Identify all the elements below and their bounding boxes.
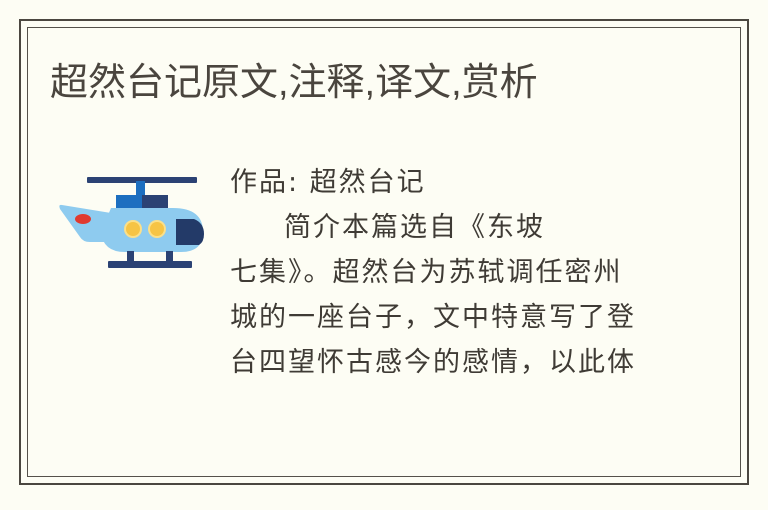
- card-content: 超然台记原文,注释,译文,赏析: [30, 30, 738, 474]
- summary-line: 七集》。超然台为苏轼调任密州: [230, 250, 690, 295]
- article-card: 超然台记原文,注释,译文,赏析: [0, 0, 768, 510]
- article-summary: 作品: 超然台记 简介本篇选自《东坡 七集》。超然台为苏轼调任密州 城的一座台子…: [230, 160, 690, 385]
- summary-line: 城的一座台子，文中特意写了登: [230, 295, 690, 340]
- helicopter-icon: [56, 175, 211, 270]
- page-title: 超然台记原文,注释,译文,赏析: [50, 60, 538, 106]
- summary-line: 简介本篇选自《东坡: [230, 205, 690, 250]
- summary-line: 作品: 超然台记: [230, 160, 690, 205]
- summary-line: 台四望怀古感今的感情，以此体: [230, 340, 690, 385]
